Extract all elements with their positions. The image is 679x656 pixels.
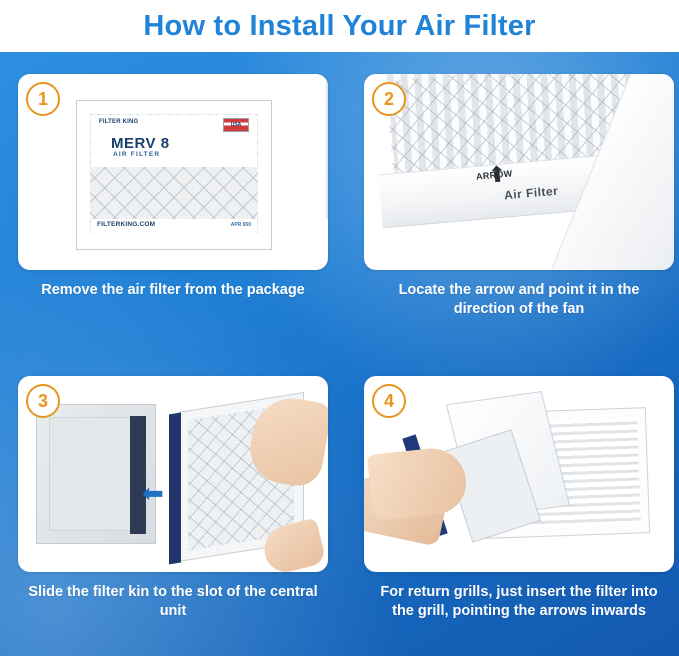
- step-2-caption: Locate the arrow and point it in the dir…: [369, 281, 669, 319]
- page-title: How to Install Your Air Filter: [143, 10, 535, 43]
- slide-filter-illustration: ⬅: [18, 376, 328, 572]
- filter-side-panel: [326, 79, 328, 220]
- filter-front-face: FILTER KING USA MERV 8 AIR FILTER FILTER…: [76, 100, 272, 250]
- usa-flag-icon: USA: [223, 118, 249, 132]
- return-grill-illustration: [364, 376, 674, 572]
- usa-flag-label: USA: [224, 119, 248, 131]
- step-3-card: 3 ⬅: [18, 376, 328, 572]
- merv-rating-text: MERV 8: [111, 135, 170, 152]
- filter-subtitle-text: AIR FILTER: [113, 151, 160, 158]
- step-4: 4 For return grills, just insert the fil…: [346, 354, 679, 656]
- brand-logo-text: FILTER KING: [99, 119, 138, 126]
- step-4-caption: For return grills, just insert the filte…: [369, 583, 669, 621]
- filter-slot: [130, 416, 146, 534]
- step-1: 1 FILTER KING USA MERV 8 AIR FILTER: [0, 52, 346, 354]
- step-1-card: 1 FILTER KING USA MERV 8 AIR FILTER: [18, 74, 328, 270]
- insert-direction-arrow-icon: ⬅: [142, 480, 164, 506]
- step-2-badge: 2: [372, 82, 406, 116]
- step-1-badge: 1: [26, 82, 60, 116]
- step-3-caption: Slide the filter kin to the slot of the …: [23, 583, 323, 621]
- apr-rating-text: APR 650: [231, 222, 251, 228]
- step-3: 3 ⬅ Slide the filter kin to the slot of …: [0, 354, 346, 656]
- infographic-root: How to Install Your Air Filter 1 FILTER …: [0, 0, 679, 656]
- filter-blue-edge: [169, 413, 181, 565]
- step-1-caption: Remove the air filter from the package: [23, 281, 323, 300]
- filter-top-label: FILTER KING USA MERV 8 AIR FILTER: [91, 115, 257, 167]
- steps-grid: 1 FILTER KING USA MERV 8 AIR FILTER: [0, 52, 679, 656]
- hand: [367, 445, 469, 521]
- title-band: How to Install Your Air Filter: [0, 0, 679, 52]
- step-2-card: 2 ⬆ ARROW Air Filter: [364, 74, 674, 270]
- filter-closeup-illustration: ⬆ ARROW Air Filter: [364, 74, 674, 270]
- central-unit-panel: [49, 417, 143, 531]
- website-text: FILTERKING.COM: [97, 221, 155, 228]
- air-filter-front-illustration: FILTER KING USA MERV 8 AIR FILTER FILTER…: [18, 74, 328, 270]
- step-2: 2 ⬆ ARROW Air Filter Locate the arrow an…: [346, 52, 679, 354]
- step-4-badge: 4: [372, 384, 406, 418]
- filter-bottom-label: FILTERKING.COM APR 650: [91, 219, 257, 233]
- step-3-badge: 3: [26, 384, 60, 418]
- step-4-card: 4: [364, 376, 674, 572]
